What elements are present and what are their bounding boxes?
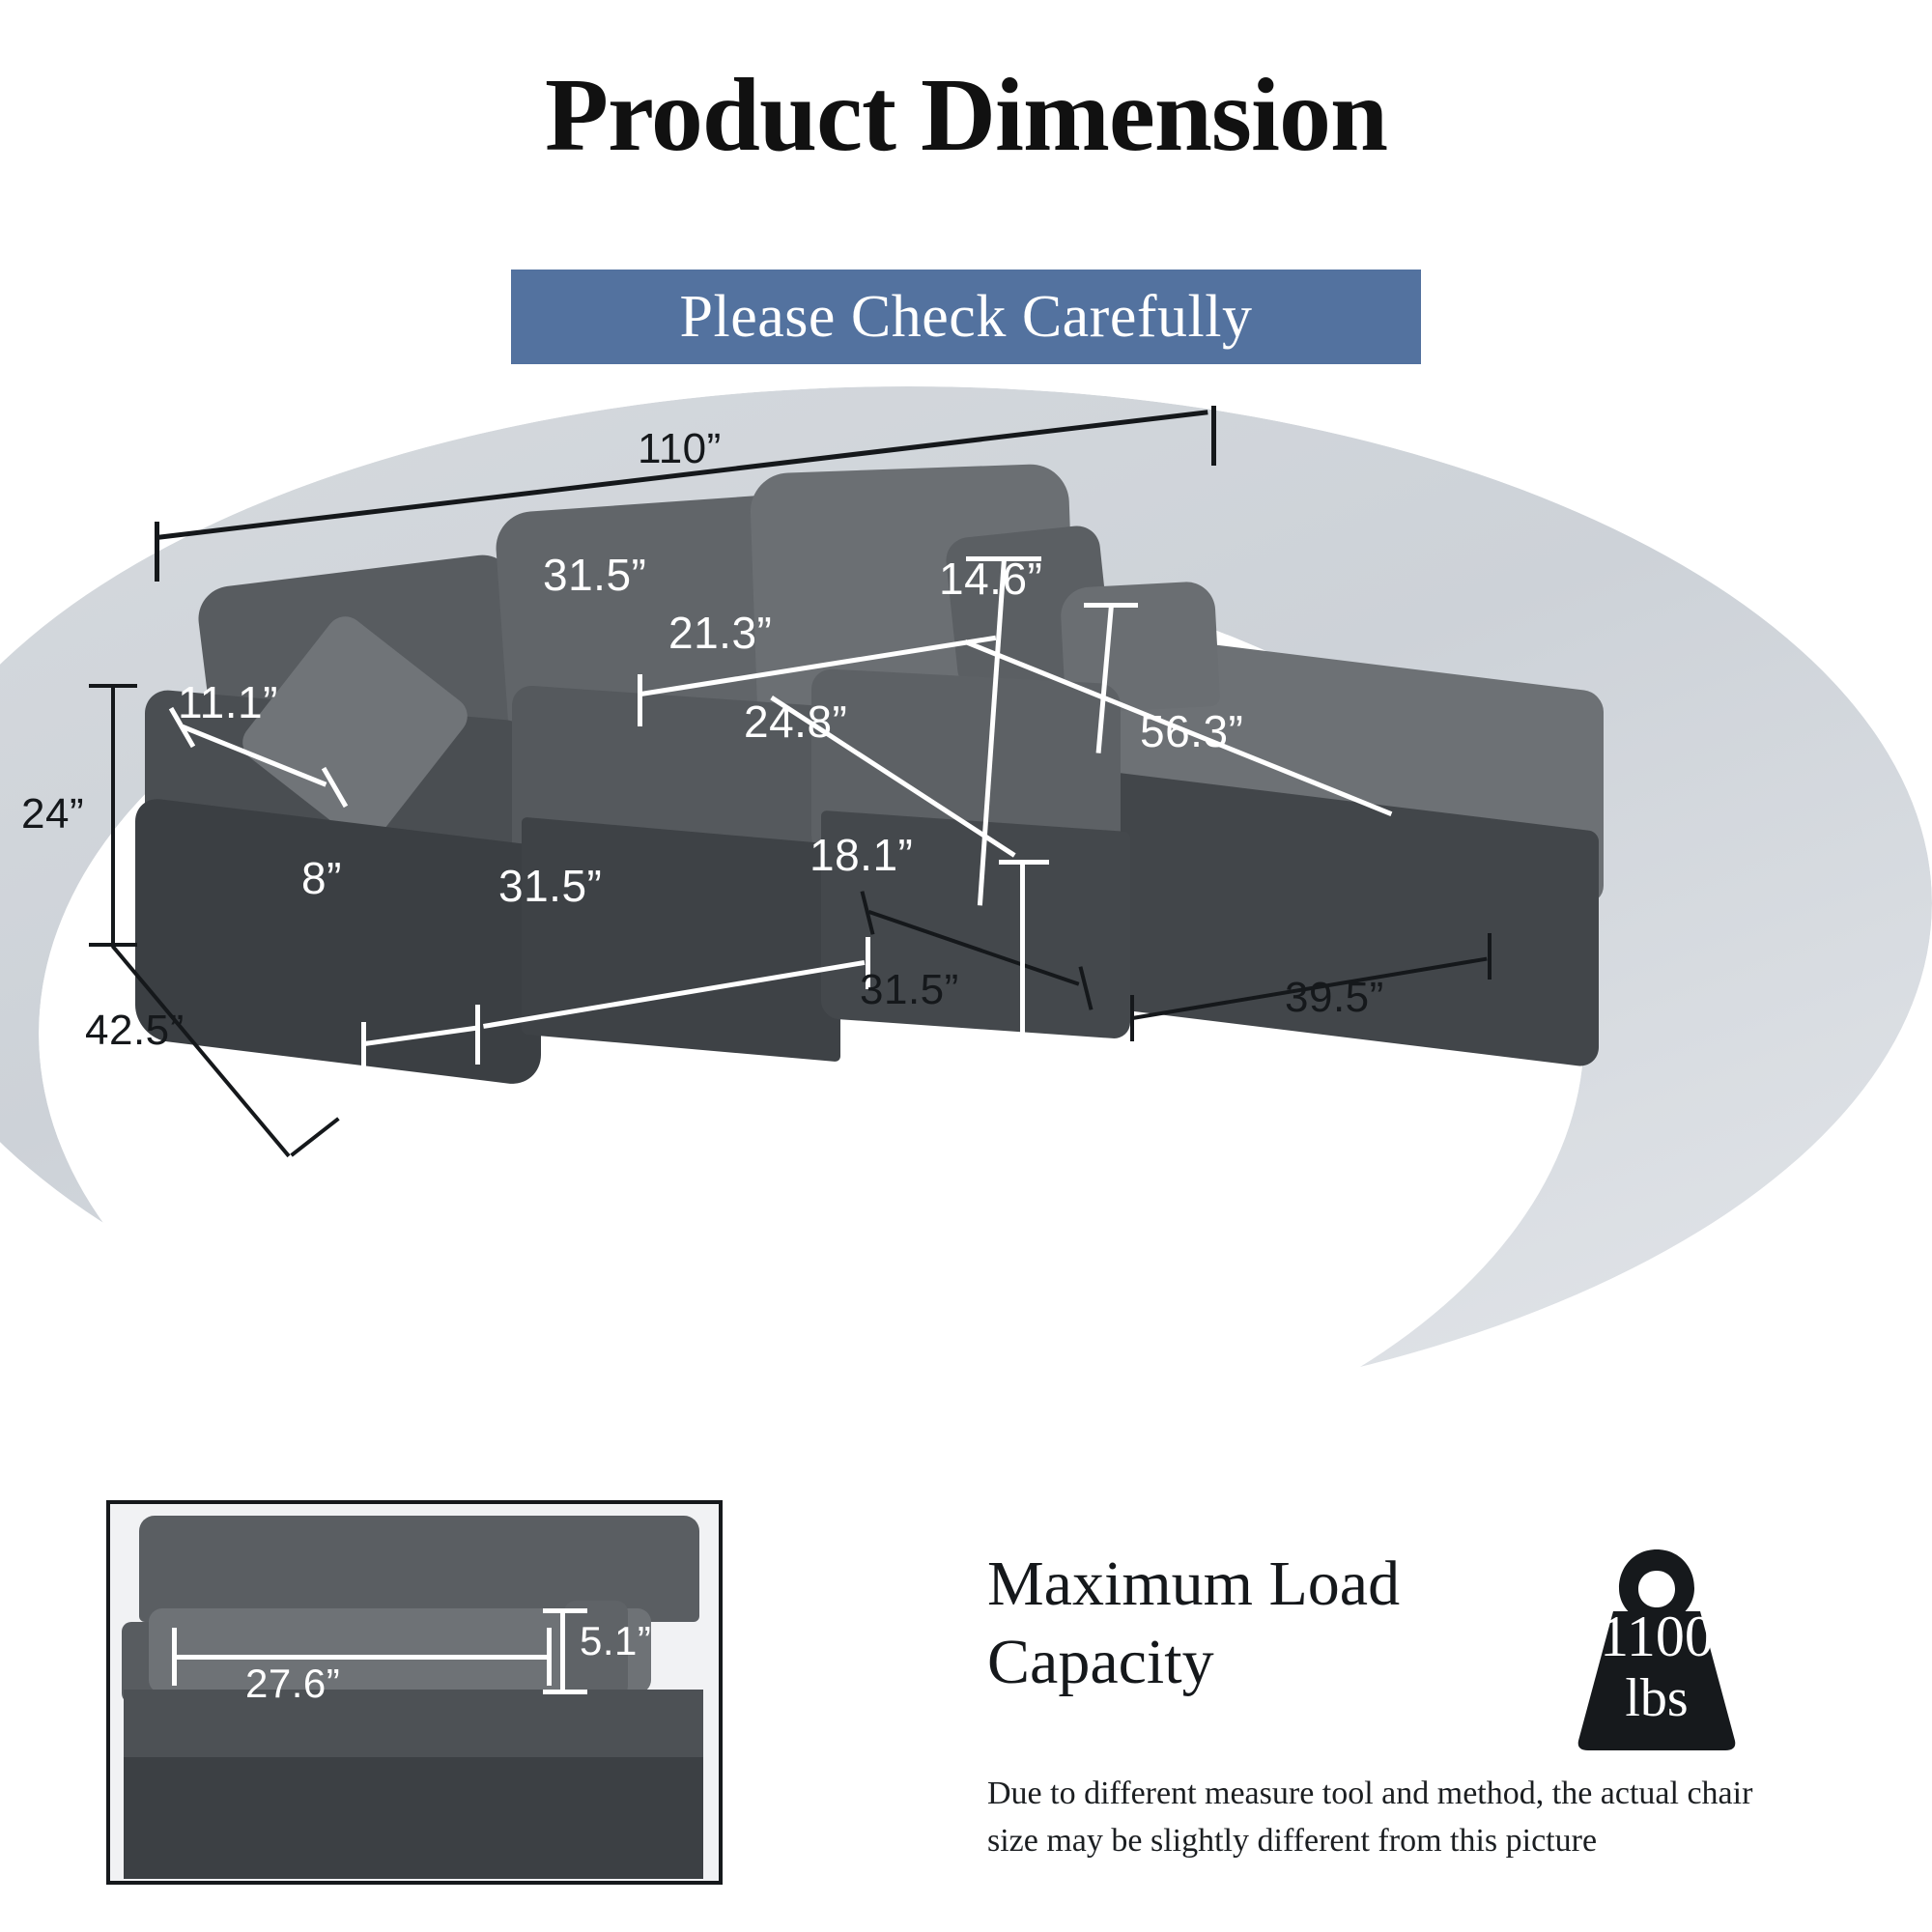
product-illustration: 110” 24”: [0, 415, 1932, 1459]
dimension-tick-bolster-left: [172, 1628, 177, 1686]
base-middle: [522, 817, 840, 1063]
dimension-tick-bolster-right: [547, 1628, 552, 1686]
dimension-tick-width-left: [155, 522, 159, 582]
disclaimer-line2: size may be slightly different from this…: [987, 1817, 1866, 1864]
dimension-line-seat-height: [1020, 862, 1025, 1082]
disclaimer-line1: Due to different measure tool and method…: [987, 1770, 1866, 1817]
dimension-line-inset-bolster-length: [174, 1655, 551, 1660]
page-title: Product Dimension: [0, 60, 1932, 173]
dimension-label-overall-depth: 42.5”: [85, 1007, 185, 1055]
dimension-label-chaise-side: 31.5”: [860, 966, 959, 1014]
dimension-tick-chaise-width-right: [1488, 933, 1492, 980]
dimension-tick-bolster-height-top: [543, 1608, 587, 1613]
dimension-label-chaise-length: 56.3”: [1140, 705, 1243, 757]
dimension-tick-bolster-height-bottom: [543, 1690, 587, 1694]
dimension-label-seat-depth: 24.8”: [744, 696, 847, 748]
dimension-label-back-cushion-width: 31.5”: [543, 549, 646, 601]
subtitle-text: Please Check Carefully: [680, 283, 1253, 352]
dimension-tick-front-right: [475, 1005, 480, 1065]
dimension-label-seat-cushion-width: 31.5”: [498, 860, 602, 912]
dimension-tick-pillow-top: [1084, 603, 1138, 608]
detail-inset-photo: 27.6” 5.1”: [106, 1500, 723, 1885]
dimension-label-overall-width: 110”: [638, 425, 722, 473]
dimension-tick-back-width-left: [638, 674, 642, 726]
subtitle-banner: Please Check Carefully: [511, 270, 1421, 364]
dimension-line-inset-bolster-height: [560, 1610, 565, 1693]
dimension-label-overall-height: 24”: [21, 790, 84, 838]
dimension-label-seat-front-edge: 8”: [301, 852, 342, 904]
dimension-label-arm-width: 11.1”: [178, 676, 278, 728]
dimension-tick-front-left: [361, 1022, 366, 1082]
max-load-title: Maximum Load Capacity: [987, 1546, 1586, 1701]
disclaimer-text: Due to different measure tool and method…: [987, 1770, 1866, 1865]
dimension-tick-chaise-width-left: [1130, 995, 1134, 1041]
max-load-title-line2: Capacity: [987, 1624, 1586, 1702]
dimension-tick-width-right: [1211, 406, 1216, 466]
inset-seat: [124, 1690, 703, 1761]
weight-icon: 1100 lbs: [1546, 1536, 1768, 1758]
dimension-line-overall-height: [111, 684, 115, 947]
dimension-tick-seat-height-top: [999, 860, 1049, 865]
dimension-label-seat-height: 18.1”: [810, 829, 913, 881]
dimension-label-back-cushion-height: 21.3”: [668, 607, 772, 659]
dimension-label-inset-bolster-length: 27.6”: [245, 1661, 340, 1707]
dimension-tick-height-top: [89, 684, 137, 688]
max-load-title-line1: Maximum Load: [987, 1546, 1586, 1624]
product-dimension-infographic: Product Dimension Please Check Carefully…: [0, 0, 1932, 1932]
dimension-label-inset-bolster-height: 5.1”: [580, 1618, 651, 1664]
inset-base: [124, 1757, 703, 1879]
dimension-label-accent-pillow: 14.6”: [939, 553, 1042, 605]
dimension-label-chaise-width: 39.5”: [1285, 974, 1384, 1022]
